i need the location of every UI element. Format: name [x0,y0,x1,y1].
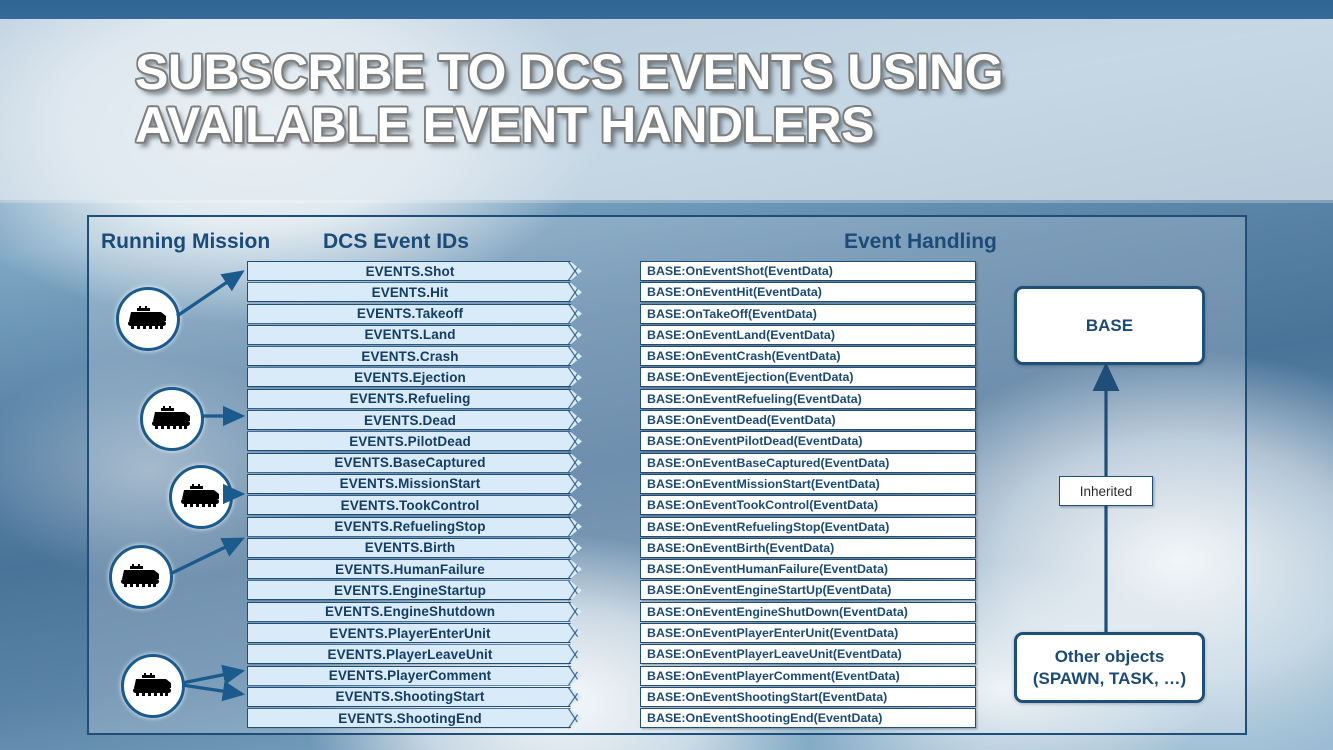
tank-icon [150,406,194,432]
tank-marker-3[interactable] [169,465,233,529]
handler-row[interactable]: BASE:OnEventCrash(EventData) [640,346,976,366]
event-row[interactable]: EVENTS.ShootingStart [247,687,582,707]
column-header-running-mission: Running Mission [101,230,270,254]
handler-row[interactable]: BASE:OnEventHumanFailure(EventData) [640,559,976,579]
inheritance-label-text: Inherited [1080,484,1133,499]
title-band-edge [0,200,1333,203]
event-row[interactable]: EVENTS.EngineStartup [247,580,582,600]
handler-row[interactable]: BASE:OnEventHit(EventData) [640,282,976,302]
event-row[interactable]: EVENTS.Birth [247,538,582,558]
handler-row[interactable]: BASE:OnEventBirth(EventData) [640,538,976,558]
event-row[interactable]: EVENTS.RefuelingStop [247,517,582,537]
event-row[interactable]: EVENTS.Shot [247,261,582,281]
event-row[interactable]: EVENTS.PlayerComment [247,666,582,686]
handler-row[interactable]: BASE:OnEventMissionStart(EventData) [640,474,976,494]
event-row[interactable]: EVENTS.Takeoff [247,304,582,324]
tank-marker-4[interactable] [109,545,173,609]
tank-marker-1[interactable] [116,287,180,351]
event-row[interactable]: EVENTS.PilotDead [247,431,582,451]
event-row[interactable]: EVENTS.HumanFailure [247,559,582,579]
inheritance-label: Inherited [1059,476,1153,506]
event-row[interactable]: EVENTS.ShootingEnd [247,708,582,728]
event-row[interactable]: EVENTS.Crash [247,346,582,366]
column-header-dcs-event-ids: DCS Event IDs [323,230,469,254]
event-row[interactable]: EVENTS.Dead [247,410,582,430]
handler-row[interactable]: BASE:OnEventPlayerEnterUnit(EventData) [640,623,976,643]
handler-row[interactable]: BASE:OnEventBaseCaptured(EventData) [640,453,976,473]
event-handler-list: BASE:OnEventShot(EventData) BASE:OnEvent… [640,261,976,730]
handler-row[interactable]: BASE:OnTakeOff(EventData) [640,304,976,324]
handler-row[interactable]: BASE:OnEventShootingStart(EventData) [640,687,976,707]
tank-marker-5[interactable] [121,654,185,718]
event-row[interactable]: EVENTS.Land [247,325,582,345]
event-row[interactable]: EVENTS.EngineShutdown [247,602,582,622]
slide-canvas: SUBSCRIBE TO DCS EVENTS USING AVAILABLE … [0,0,1333,750]
event-id-list: EVENTS.Shot EVENTS.Hit EVENTS.Takeoff EV… [247,261,582,730]
tank-icon [179,484,223,510]
handler-row[interactable]: BASE:OnEventShootingEnd(EventData) [640,708,976,728]
event-row[interactable]: EVENTS.Ejection [247,367,582,387]
column-header-event-handling: Event Handling [844,230,997,254]
handler-row[interactable]: BASE:OnEventEngineShutDown(EventData) [640,602,976,622]
handler-row[interactable]: BASE:OnEventEngineStartUp(EventData) [640,580,976,600]
event-row[interactable]: EVENTS.Hit [247,282,582,302]
class-box-other-line2: (SPAWN, TASK, …) [1033,668,1186,690]
diagram-panel: Running Mission DCS Event IDs Event Hand… [87,215,1247,735]
class-box-base[interactable]: BASE [1014,286,1205,365]
class-box-base-label: BASE [1086,316,1133,336]
handler-row[interactable]: BASE:OnEventRefueling(EventData) [640,389,976,409]
handler-row[interactable]: BASE:OnEventLand(EventData) [640,325,976,345]
event-row[interactable]: EVENTS.PlayerEnterUnit [247,623,582,643]
handler-row[interactable]: BASE:OnEventPilotDead(EventData) [640,431,976,451]
handler-row[interactable]: BASE:OnEventPlayerComment(EventData) [640,666,976,686]
handler-row[interactable]: BASE:OnEventShot(EventData) [640,261,976,281]
event-row[interactable]: EVENTS.TookControl [247,495,582,515]
class-box-other-objects[interactable]: Other objects (SPAWN, TASK, …) [1014,632,1205,703]
tank-icon [119,564,163,590]
tank-icon [126,306,170,332]
slide-title: SUBSCRIBE TO DCS EVENTS USING AVAILABLE … [135,46,1235,152]
class-box-other-line1: Other objects [1055,646,1165,668]
handler-row[interactable]: BASE:OnEventTookControl(EventData) [640,495,976,515]
tank-icon [131,673,175,699]
event-row[interactable]: EVENTS.Refueling [247,389,582,409]
event-row[interactable]: EVENTS.PlayerLeaveUnit [247,644,582,664]
event-row[interactable]: EVENTS.MissionStart [247,474,582,494]
tank-marker-2[interactable] [140,387,204,451]
handler-row[interactable]: BASE:OnEventDead(EventData) [640,410,976,430]
handler-row[interactable]: BASE:OnEventPlayerLeaveUnit(EventData) [640,644,976,664]
event-row[interactable]: EVENTS.BaseCaptured [247,453,582,473]
top-accent-band [0,0,1333,19]
handler-row[interactable]: BASE:OnEventEjection(EventData) [640,367,976,387]
handler-row[interactable]: BASE:OnEventRefuelingStop(EventData) [640,517,976,537]
